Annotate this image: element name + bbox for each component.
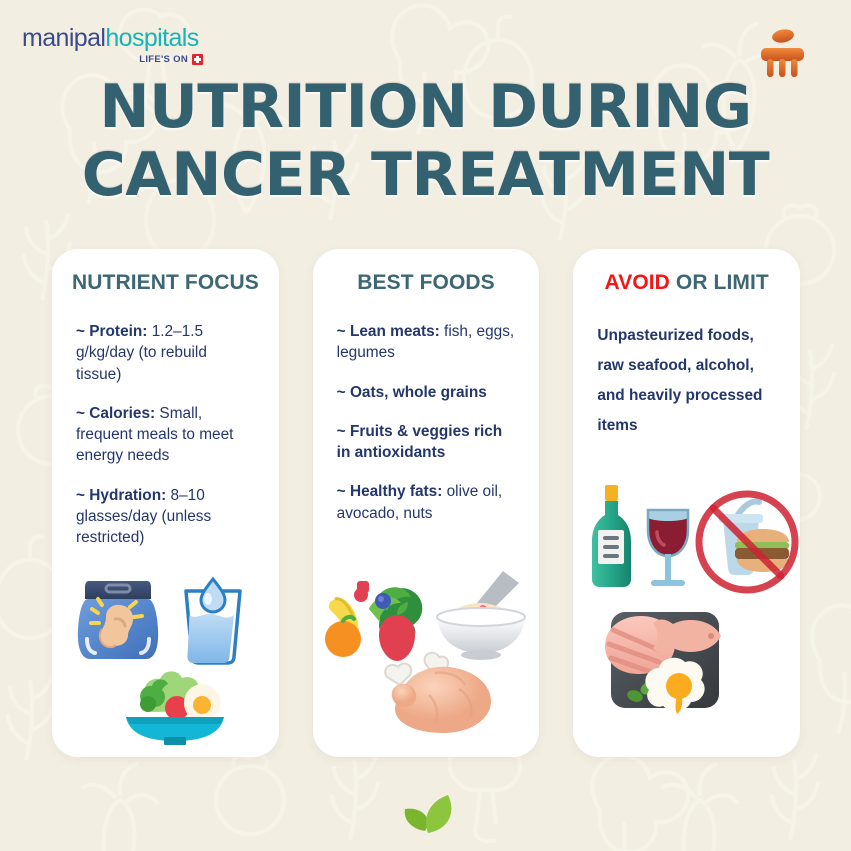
logo-wordmark: manipalhospitals bbox=[22, 26, 212, 51]
page-title: NUTRITION DURING CANCER TREATMENT bbox=[0, 74, 851, 210]
list-item: ~ Protein: 1.2–1.5 g/kg/day (to rebuild … bbox=[76, 321, 255, 385]
bullet-label: Oats, whole grains bbox=[350, 384, 487, 401]
heading-highlight-avoid: AVOID bbox=[605, 271, 670, 294]
bullet-label: Hydration: bbox=[89, 487, 166, 504]
page-title-line-1: NUTRITION DURING bbox=[0, 74, 851, 142]
bullet-label: Protein: bbox=[89, 323, 147, 340]
card-art-nutrient-focus bbox=[52, 567, 279, 757]
list-item: ~ Calories: Small, frequent meals to mee… bbox=[76, 403, 255, 467]
bullet-marker: ~ bbox=[337, 323, 346, 340]
bullet-label: Lean meats: bbox=[350, 323, 440, 340]
bullet-label: Fruits & veggies rich in antioxidants bbox=[337, 423, 503, 461]
page-title-line-2: CANCER TREATMENT bbox=[0, 142, 851, 210]
bullet-marker: ~ bbox=[76, 323, 85, 340]
list-item: ~ Hydration: 8–10 glasses/day (unless re… bbox=[76, 485, 255, 549]
water-glass-icon bbox=[170, 573, 256, 665]
card-art-avoid-or-limit bbox=[573, 482, 800, 757]
medical-cross-icon bbox=[192, 54, 203, 65]
card-heading-nutrient-focus: NUTRIENT FOCUS bbox=[72, 271, 259, 295]
list-item: ~ Oats, whole grains bbox=[337, 382, 516, 403]
info-cards-row: NUTRIENT FOCUS ~ Protein: 1.2–1.5 g/kg/d… bbox=[52, 249, 800, 757]
bullet-list-nutrient-focus: ~ Protein: 1.2–1.5 g/kg/day (to rebuild … bbox=[72, 321, 259, 548]
raw-meat-fish-egg-icon bbox=[587, 602, 751, 726]
card-art-best-foods bbox=[313, 567, 540, 757]
bullet-label: Healthy fats: bbox=[350, 483, 442, 500]
no-junk-food-icon bbox=[693, 486, 800, 594]
footer-leaves bbox=[0, 791, 851, 835]
card-heading-avoid-or-limit: AVOID OR LIMIT bbox=[593, 271, 780, 295]
list-item: ~ Fruits & veggies rich in antioxidants bbox=[337, 421, 516, 464]
wine-bottle-icon bbox=[585, 482, 637, 592]
bullet-marker: ~ bbox=[337, 423, 346, 440]
card-nutrient-focus: NUTRIENT FOCUS ~ Protein: 1.2–1.5 g/kg/d… bbox=[52, 249, 279, 757]
salad-bowl-icon bbox=[120, 659, 230, 745]
card-best-foods: BEST FOODS ~ Lean meats: fish, eggs, leg… bbox=[313, 249, 540, 757]
bullet-marker: ~ bbox=[337, 384, 346, 401]
protein-powder-bag-icon bbox=[72, 573, 164, 665]
heading-rest-or-limit: OR LIMIT bbox=[670, 271, 769, 294]
card-avoid-or-limit: AVOID OR LIMIT Unpasteurized foods, raw … bbox=[573, 249, 800, 757]
logo-word-hospitals: hospitals bbox=[105, 24, 198, 52]
bullet-marker: ~ bbox=[76, 405, 85, 422]
logo-word-manipal: manipal bbox=[22, 24, 105, 52]
list-item: ~ Lean meats: fish, eggs, legumes bbox=[337, 321, 516, 364]
list-item: ~ Healthy fats: olive oil, avocado, nuts bbox=[337, 481, 516, 524]
bullet-list-best-foods: ~ Lean meats: fish, eggs, legumes ~ Oats… bbox=[333, 321, 520, 524]
manipal-hospitals-logo: manipalhospitals LIFE'S ON bbox=[22, 26, 212, 65]
bullet-marker: ~ bbox=[76, 487, 85, 504]
bullet-marker: ~ bbox=[337, 483, 346, 500]
roast-chicken-icon bbox=[363, 645, 503, 741]
list-item: Unpasteurized foods, raw seafood, alcoho… bbox=[597, 321, 776, 441]
logo-tagline: LIFE'S ON bbox=[139, 54, 188, 65]
card-heading-best-foods: BEST FOODS bbox=[333, 271, 520, 295]
bullet-label: Calories: bbox=[89, 405, 155, 422]
wine-glass-icon bbox=[639, 504, 697, 594]
bullet-list-avoid-or-limit: Unpasteurized foods, raw seafood, alcoho… bbox=[593, 321, 780, 441]
fork-utensil-icon bbox=[758, 27, 806, 79]
logo-tagline-row: LIFE'S ON bbox=[22, 54, 212, 65]
green-leaves-icon bbox=[395, 791, 457, 835]
